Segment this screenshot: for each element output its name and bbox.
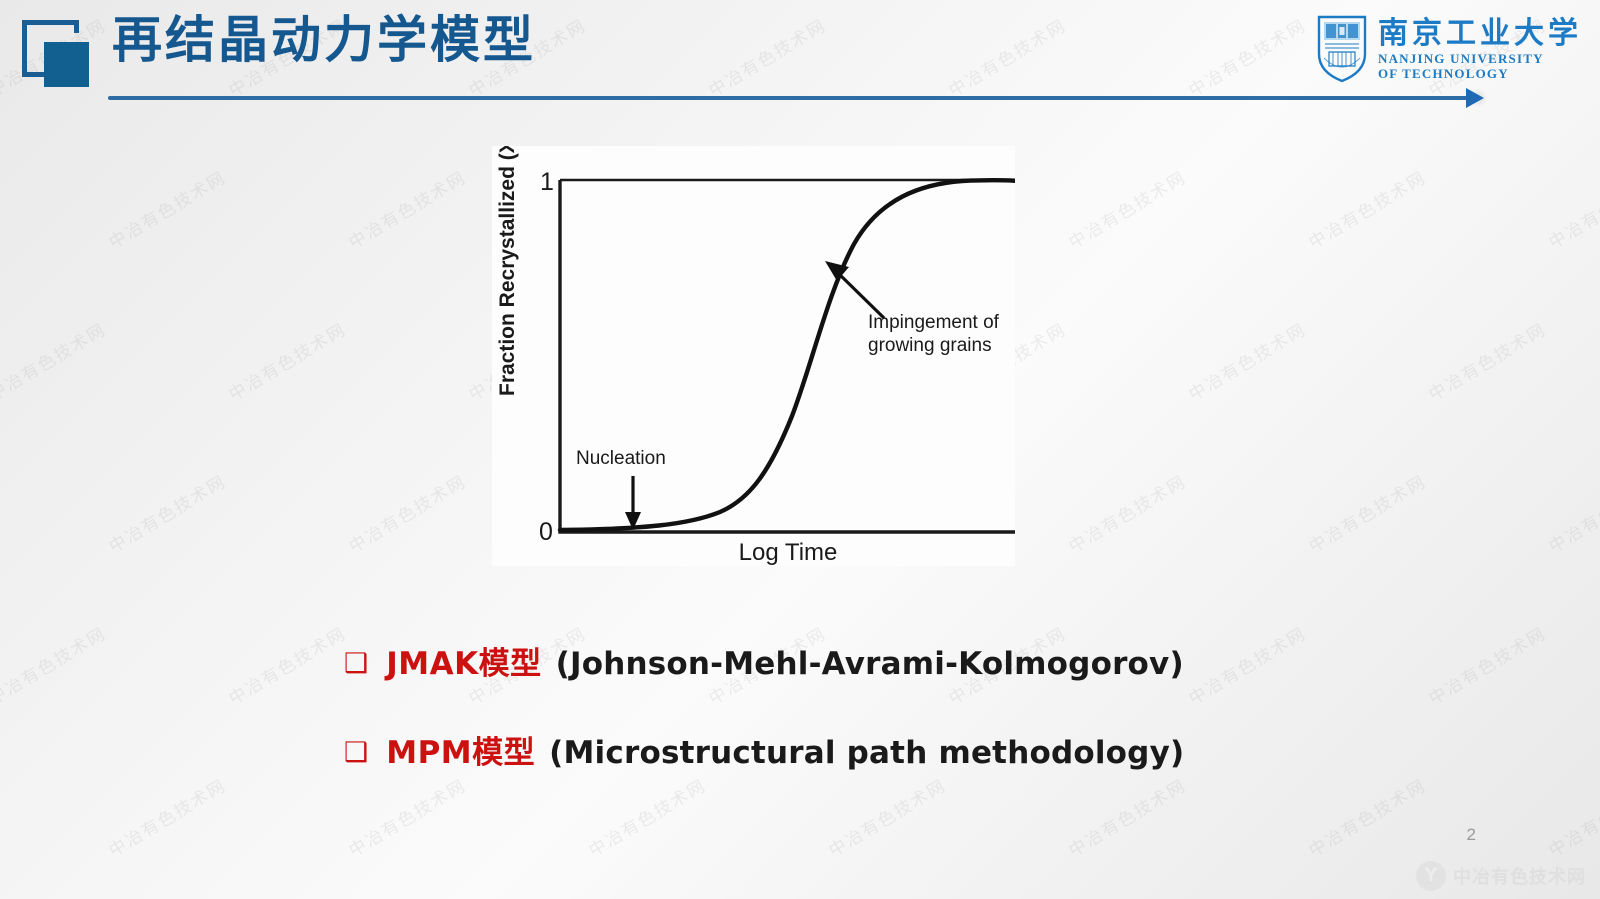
university-name-cn: 南京工业大学 xyxy=(1378,17,1582,51)
watermark-text: 中冶有色技术网 xyxy=(343,468,470,558)
list-item[interactable]: ❑ JMAK模型 (Johnson-Mehl-Avrami-Kolmogorov… xyxy=(344,638,1184,683)
title-divider xyxy=(108,96,1470,100)
watermark-text: 中冶有色技术网 xyxy=(1063,164,1190,254)
square-bullet-icon: ❑ xyxy=(344,739,368,766)
list-item-detail: (Microstructural path methodology) xyxy=(549,735,1184,771)
watermark-text: 中冶有色技术网 xyxy=(0,620,110,710)
university-name-en-line2: OF TECHNOLOGY xyxy=(1378,66,1582,81)
watermark-text: 中冶有色技术网 xyxy=(1063,468,1190,558)
watermark-text: 中冶有色技术网 xyxy=(1303,164,1430,254)
watermark-text: 中冶有色技术网 xyxy=(1303,772,1430,862)
page-number: 2 xyxy=(1467,825,1476,845)
watermark-text: 中冶有色技术网 xyxy=(1423,316,1550,406)
nested-squares-icon xyxy=(22,20,94,92)
university-text: 南京工业大学 NANJING UNIVERSITY OF TECHNOLOGY xyxy=(1378,17,1582,81)
chart-ytick-top: 1 xyxy=(540,168,554,196)
university-name-en-line1: NANJING UNIVERSITY xyxy=(1378,51,1582,66)
watermark-text: 中冶有色技术网 xyxy=(103,772,230,862)
watermark-text: 中冶有色技术网 xyxy=(103,468,230,558)
watermark-text: 中冶有色技术网 xyxy=(1303,468,1430,558)
slide-canvas: 中冶有色技术网中冶有色技术网中冶有色技术网中冶有色技术网中冶有色技术网中冶有色技… xyxy=(0,0,1600,899)
arrow-right-icon xyxy=(1466,88,1484,108)
list-item-detail: (Johnson-Mehl-Avrami-Kolmogorov) xyxy=(556,646,1184,682)
shield-crest-icon xyxy=(1316,14,1368,84)
university-logo: 南京工业大学 NANJING UNIVERSITY OF TECHNOLOGY xyxy=(1316,8,1582,90)
annotation-impingement-line2: growing grains xyxy=(868,335,992,356)
slide-header: 再结晶动力学模型 南京工业大学 NANJING UNIVERSITY OF TE… xyxy=(0,0,1600,110)
watermark-logo-icon: Y xyxy=(1416,861,1446,891)
watermark-text: 中冶有色技术网 xyxy=(1543,164,1600,254)
annotation-nucleation-label: Nucleation xyxy=(576,448,666,469)
square-bullet-icon: ❑ xyxy=(344,650,368,677)
model-list: ❑ JMAK模型 (Johnson-Mehl-Avrami-Kolmogorov… xyxy=(344,638,1184,816)
recrystallization-chart: Fraction Recrystallized (Xᵥ) 1 0 Nucleat… xyxy=(492,146,1015,566)
chart-ytick-bottom: 0 xyxy=(539,518,553,546)
watermark-text: 中冶有色技术网 xyxy=(1543,772,1600,862)
list-item-key: MPM模型 xyxy=(386,727,535,772)
watermark-text: 中冶有色技术网 xyxy=(1423,620,1550,710)
footer-watermark: Y 中冶有色技术网 xyxy=(1416,861,1586,891)
annotation-impingement-line1: Impingement of xyxy=(868,312,1000,333)
watermark-text: 中冶有色技术网 xyxy=(1543,468,1600,558)
watermark-text: 中冶有色技术网 xyxy=(223,316,350,406)
watermark-text: 中冶有色技术网 xyxy=(103,164,230,254)
watermark-text: 中冶有色技术网 xyxy=(1183,620,1310,710)
list-item[interactable]: ❑ MPM模型 (Microstructural path methodolog… xyxy=(344,727,1184,772)
watermark-text: 中冶有色技术网 xyxy=(1183,316,1310,406)
chart-xlabel: Log Time xyxy=(739,539,838,566)
square-filled-shape xyxy=(44,42,89,87)
watermark-text: 中冶有色技术网 xyxy=(223,620,350,710)
watermark-text: 中冶有色技术网 xyxy=(343,164,470,254)
watermark-text: 中冶有色技术网 xyxy=(0,316,110,406)
chart-ylabel: Fraction Recrystallized (Xᵥ) xyxy=(496,146,519,396)
list-item-key: JMAK模型 xyxy=(386,638,541,683)
chart-svg: Fraction Recrystallized (Xᵥ) 1 0 Nucleat… xyxy=(492,146,1015,566)
watermark-brand-text: 中冶有色技术网 xyxy=(1453,863,1586,889)
page-title: 再结晶动力学模型 xyxy=(112,9,536,71)
